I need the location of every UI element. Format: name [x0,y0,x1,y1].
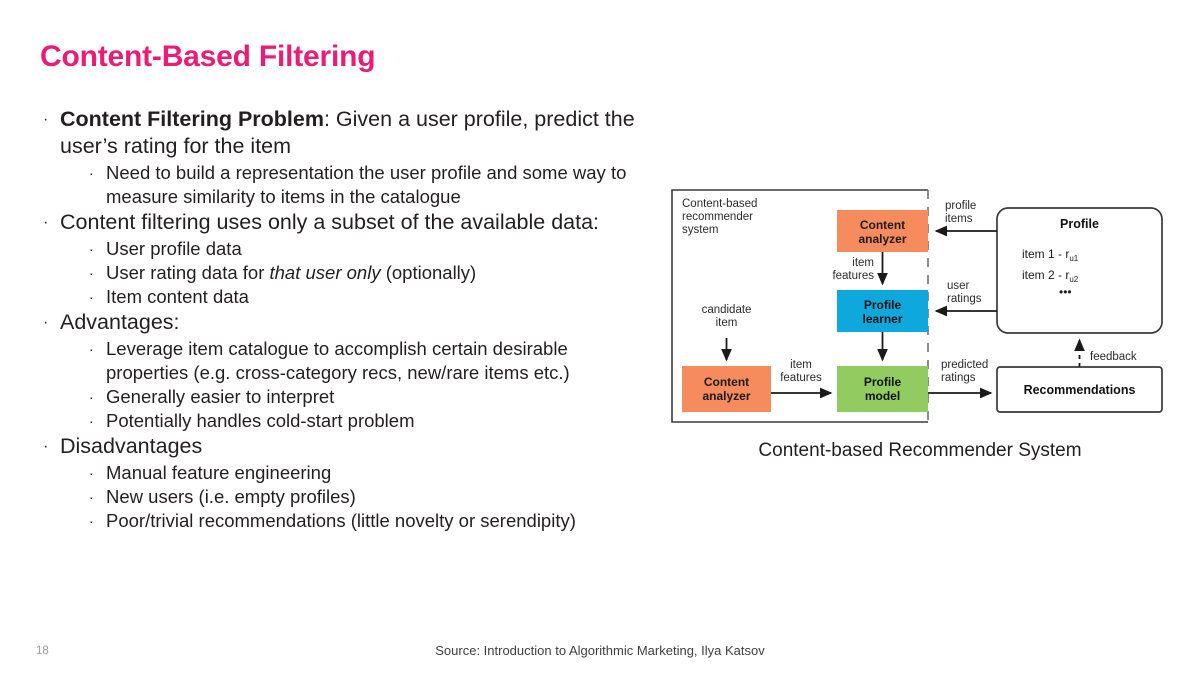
edge-label-line1: profile [945,200,976,212]
node-label-line1: Content [704,375,749,389]
system-label-line1: Content-based [682,198,757,210]
node-profile-box[interactable]: Profile item 1 - ru1 item 2 - ru2 ••• [997,208,1162,333]
bullet-item: · Leverage item catalogue to accomplish … [36,337,646,385]
edge-label-line1: predicted [941,359,988,371]
bullet-text: New users (i.e. empty profiles) [106,486,356,507]
bullet-dot-icon: · [89,237,94,261]
bullet-item: · Item content data [36,285,646,309]
bullet-text: Manual feature engineering [106,462,331,483]
node-label-line1: Profile [864,298,902,312]
bullet-dot-icon: · [89,161,94,185]
node-label-line2: model [865,389,900,403]
edge-predicted-ratings: predicted ratings [928,359,991,393]
bullet-item: · Content filtering uses only a subset o… [36,209,646,236]
bullet-item: · Need to build a representation the use… [36,161,646,209]
bullet-dot-icon: · [43,106,48,133]
edge-label-line1: user [947,280,970,292]
edge-label-line1: item [790,359,812,371]
bullet-text-italic: that user only [270,262,381,283]
figure-caption: Content-based Recommender System [660,440,1180,462]
bullet-dot-icon: · [89,285,94,309]
edge-candidate-item: candidate item [702,304,752,360]
bullet-dot-icon: · [89,385,94,409]
node-label-line2: analyzer [858,232,906,246]
bullet-dot-icon: · [89,509,94,533]
bullet-text: Poor/trivial recommendations (little nov… [106,510,576,531]
bullet-dot-icon: · [89,461,94,485]
source-attribution: Source: Introduction to Algorithmic Mark… [0,643,1200,658]
node-profile-learner[interactable]: Profile learner [837,290,928,332]
bullet-text-pre: User rating data for [106,262,270,283]
bullet-dot-icon: · [43,209,48,236]
edge-label-line2: ratings [947,293,982,305]
bullet-text-post: (optionally) [381,262,477,283]
bullet-item: · User rating data for that user only (o… [36,261,646,285]
edge-label-line1: candidate [702,304,752,316]
bullet-item: · User profile data [36,237,646,261]
bullet-text: Need to build a representation the user … [106,162,626,207]
system-label-line2: recommender [682,211,753,223]
bullet-text: Generally easier to interpret [106,386,334,407]
node-label-line2: learner [862,312,902,326]
recommender-system-diagram: Content-based recommender system Content… [660,178,1180,433]
bullet-item: · Disadvantages [36,433,646,460]
bullet-text: Disadvantages [60,434,202,458]
bullet-list: · Content Filtering Problem: Given a use… [36,106,646,533]
node-label-line2: analyzer [702,389,750,403]
profile-ellipsis: ••• [1059,285,1072,299]
bullet-item: · Manual feature engineering [36,461,646,485]
bullet-text: Item content data [106,286,249,307]
edge-item-features-bottom: item features [771,359,831,393]
edge-item-features-top: item features [832,252,882,284]
node-label-line1: Profile [864,375,902,389]
node-content-analyzer-top[interactable]: Content analyzer [837,210,928,252]
profile-title: Profile [1060,217,1099,231]
bullet-text: User profile data [106,238,242,259]
bullet-dot-icon: · [43,433,48,460]
bullet-dot-icon: · [43,309,48,336]
edge-profile-items: profile items [936,200,997,231]
bullet-dot-icon: · [89,337,94,361]
node-recommendations-box[interactable]: Recommendations [997,367,1162,412]
bullet-text: Advantages: [60,310,180,334]
bullet-item: · Advantages: [36,309,646,336]
system-label-line3: system [682,224,718,236]
edge-label-line2: item [716,317,738,329]
edge-user-ratings: user ratings [936,280,997,311]
edge-label-line2: features [832,270,874,282]
node-label-line1: Content [860,218,905,232]
bullet-item: · Poor/trivial recommendations (little n… [36,509,646,533]
bullet-lead-bold: Content Filtering Problem [60,107,324,131]
bullet-item: · Generally easier to interpret [36,385,646,409]
edge-feedback: feedback [1080,340,1137,367]
node-profile-model[interactable]: Profile model [837,366,928,412]
bullet-dot-icon: · [89,261,94,285]
edge-label-line2: items [945,213,973,225]
bullet-text: Content filtering uses only a subset of … [60,210,599,234]
bullet-item: · Potentially handles cold-start problem [36,409,646,433]
recommendations-label: Recommendations [1024,383,1136,397]
page-title: Content-Based Filtering [40,40,375,74]
bullet-text: Leverage item catalogue to accomplish ce… [106,338,570,383]
bullet-item: · New users (i.e. empty profiles) [36,485,646,509]
bullet-dot-icon: · [89,485,94,509]
bullet-item: · Content Filtering Problem: Given a use… [36,106,646,160]
edge-label-feedback: feedback [1090,351,1137,363]
bullet-text: Potentially handles cold-start problem [106,410,415,431]
edge-label-line2: ratings [941,372,976,384]
node-content-analyzer-bottom[interactable]: Content analyzer [682,366,771,412]
edge-label-line2: features [780,372,822,384]
bullet-dot-icon: · [89,409,94,433]
edge-label-line1: item [852,257,874,269]
